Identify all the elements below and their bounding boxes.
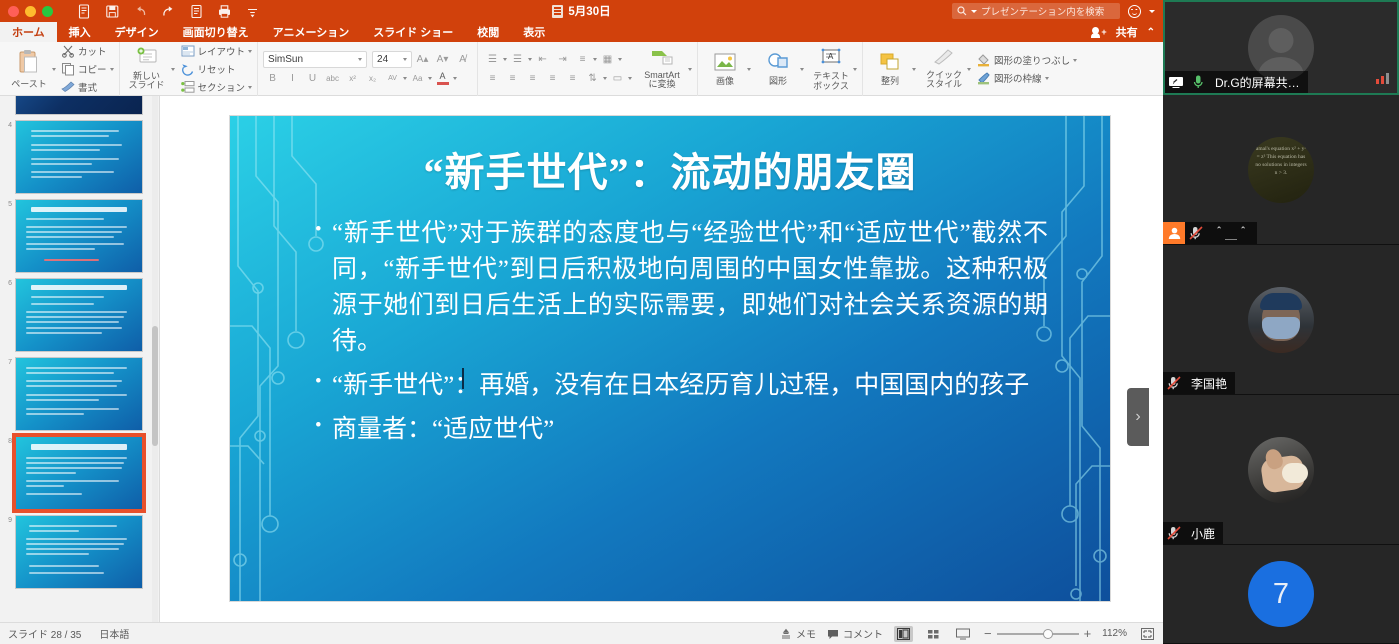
participant-name: ＾＿＾ xyxy=(1207,225,1249,242)
shape-format-actions: 図形の塗りつぶし 図形の枠線 xyxy=(977,52,1077,86)
thumbnail-row[interactable]: 4 xyxy=(0,115,153,194)
share-person-icon[interactable]: + xyxy=(1092,27,1107,38)
subscript-button[interactable]: x₂ xyxy=(363,70,382,87)
copy-button[interactable]: コピー xyxy=(61,61,114,77)
arrange-button[interactable]: 整列 xyxy=(868,52,912,86)
arrange-icon xyxy=(879,52,901,74)
align-text-button[interactable]: ▭ xyxy=(608,70,627,87)
character-spacing-button[interactable]: AV xyxy=(383,70,402,87)
status-bar: スライド 28 / 35 日本語 メモ コメント xyxy=(0,622,1163,644)
columns-button[interactable]: ▦ xyxy=(598,51,617,68)
microphone-muted-icon[interactable] xyxy=(1163,372,1185,394)
paragraph-controls: ☰ ☰ ⇤ ⇥ ≡ ▦ ≡ ≡ ≡ ≡ ≡ ⇅ ▭ xyxy=(483,51,632,87)
slide-counter: スライド 28 / 35 xyxy=(8,626,81,641)
format-painter-button[interactable]: 書式 xyxy=(61,79,114,95)
tab-transitions[interactable]: 画面切り替え xyxy=(171,22,261,42)
bullet-glyph: • xyxy=(315,216,332,245)
avatar: amal's equation x² + y² = z² This equati… xyxy=(1248,137,1314,203)
quick-access-toolbar[interactable] xyxy=(77,4,260,19)
zoom-knob[interactable] xyxy=(1043,629,1053,639)
font-color-button[interactable]: A xyxy=(433,70,452,87)
underline-button[interactable]: U xyxy=(303,70,322,87)
ribbon-group-insert: 画像 図形 A テキスト ボックス xyxy=(698,42,863,96)
zoom-out-button[interactable]: − xyxy=(984,626,992,641)
font-name-value: SimSun xyxy=(268,54,358,65)
text-cursor xyxy=(462,368,464,389)
shape-fill-dropdown-icon[interactable] xyxy=(1073,59,1077,62)
justify-button[interactable]: ≡ xyxy=(543,70,562,87)
italic-button[interactable]: I xyxy=(283,70,302,87)
shape-outline-icon xyxy=(977,71,991,85)
avatar xyxy=(1248,437,1314,503)
smartart-dropdown-icon[interactable] xyxy=(688,68,692,71)
zoom-participant-tile[interactable]: 李国艳 xyxy=(1163,245,1399,395)
search-icon xyxy=(957,6,967,16)
network-signal-icon xyxy=(1376,72,1389,84)
insert-shapes-dropdown-icon[interactable] xyxy=(800,68,804,71)
font-name-dropdown-icon[interactable] xyxy=(358,58,362,61)
line-spacing-dropdown-icon[interactable] xyxy=(593,58,597,61)
zoom-level[interactable]: 112% xyxy=(1102,628,1127,639)
insert-textbox-label-2: ボックス xyxy=(813,82,849,91)
status-bar-left: スライド 28 / 35 日本語 xyxy=(0,626,129,641)
thumbnail-list: 4 5 xyxy=(0,96,153,622)
quick-styles-icon xyxy=(932,48,956,68)
cut-button[interactable]: カット xyxy=(61,43,114,59)
convert-smartart-button[interactable]: SmartArt に変換 xyxy=(636,48,688,89)
picture-icon xyxy=(713,52,737,75)
new-slide-label-2: スライド xyxy=(129,81,165,90)
reading-view-icon xyxy=(956,628,970,640)
section-button[interactable]: セクション xyxy=(181,79,253,95)
zoom-in-button[interactable]: + xyxy=(1084,626,1092,641)
thumbnail-scrollbar-thumb[interactable] xyxy=(152,326,158,446)
reset-button[interactable]: リセット xyxy=(181,61,253,77)
format-painter-icon xyxy=(61,80,75,94)
format-painter-label: 書式 xyxy=(78,80,97,94)
insert-picture-dropdown-icon[interactable] xyxy=(747,68,751,71)
participant-name: 李国艳 xyxy=(1185,375,1227,392)
participant-name: Dr.G的屏幕共… xyxy=(1209,74,1300,91)
zoom-participant-tile[interactable]: amal's equation x² + y² = z² This equati… xyxy=(1163,95,1399,245)
insert-shapes-button[interactable]: 図形 xyxy=(756,52,800,87)
arrange-dropdown-icon[interactable] xyxy=(912,68,916,71)
copy-icon xyxy=(61,62,75,76)
microphone-icon[interactable] xyxy=(1187,71,1209,93)
title-bar: 5月30日 プレゼンテーション内を検索 xyxy=(0,0,1163,22)
slide-bullet[interactable]: • “新手世代”对于族群的态度也与“经验世代”和“适应世代”截然不同，“新手世代… xyxy=(315,216,1048,360)
smartart-icon xyxy=(650,48,674,68)
notes-icon xyxy=(780,628,792,640)
shape-outline-dropdown-icon[interactable] xyxy=(1045,77,1049,80)
new-file-icon[interactable] xyxy=(77,4,92,19)
slide-bullet[interactable]: • “新手世代”：再婚，没有在日本经历育儿过程，中国国内的孩子 xyxy=(315,368,1048,404)
thumbnail-number: 5 xyxy=(2,199,12,208)
shrink-font-button[interactable]: A▾ xyxy=(433,51,452,68)
ribbon-group-clipboard: ペースト カット コピー 書式 xyxy=(2,42,120,96)
align-right-button[interactable]: ≡ xyxy=(523,70,542,87)
numbered-list-dropdown-icon[interactable] xyxy=(528,58,532,61)
ribbon-group-slides: 新しい スライド レイアウト リセット xyxy=(120,42,259,96)
grow-font-button[interactable]: A▴ xyxy=(413,51,432,68)
layout-button[interactable]: レイアウト xyxy=(181,43,253,59)
layout-dropdown-icon[interactable] xyxy=(248,50,252,53)
fit-slide-button[interactable] xyxy=(1138,626,1157,642)
copy-label: コピー xyxy=(78,62,107,76)
shape-fill-button[interactable]: 図形の塗りつぶし xyxy=(977,52,1077,68)
microphone-muted-icon[interactable] xyxy=(1185,222,1207,244)
participant-name-bar: ＾＿＾ xyxy=(1163,222,1257,244)
slide-bullet-text: “新手世代”对于族群的态度也与“经验世代”和“适应世代”截然不同，“新手世代”到… xyxy=(332,216,1048,360)
align-left-button[interactable]: ≡ xyxy=(483,70,502,87)
shapes-icon xyxy=(766,52,790,75)
thumbnail-row[interactable]: 8 xyxy=(0,431,153,510)
smartart-label-2: に変換 xyxy=(649,80,676,89)
collapse-ribbon-icon[interactable]: ⌃ xyxy=(1147,27,1155,38)
clipboard-actions: カット コピー 書式 xyxy=(61,43,114,95)
chevron-right-icon: › xyxy=(1135,408,1140,426)
shape-fill-icon xyxy=(977,53,991,67)
insert-picture-button[interactable]: 画像 xyxy=(703,52,747,87)
avatar-initial: 7 xyxy=(1273,578,1289,611)
normal-view-icon xyxy=(897,628,910,640)
align-text-dropdown-icon[interactable] xyxy=(628,77,632,80)
text-direction-button[interactable]: ⇅ xyxy=(583,70,602,87)
paste-button[interactable]: ペースト xyxy=(7,49,51,89)
decrease-indent-button[interactable]: ⇤ xyxy=(533,51,552,68)
new-slide-icon[interactable] xyxy=(189,4,204,19)
avatar-facemask xyxy=(1262,317,1300,339)
search-dropdown-icon[interactable] xyxy=(971,10,977,13)
insert-textbox-button[interactable]: A テキスト ボックス xyxy=(809,47,853,91)
ribbon-group-arrange: 整列 クイック スタイル 図形の塗りつぶし xyxy=(863,42,1082,96)
slide-actions: レイアウト リセット セクション xyxy=(181,43,253,95)
minimize-window-button[interactable] xyxy=(25,6,36,17)
screen-root: 5月30日 プレゼンテーション内を検索 ホーム 挿入 デザイン 画面切り替え ア… xyxy=(0,0,1399,644)
smiley-icon[interactable] xyxy=(1128,5,1141,18)
slide-sorter-icon xyxy=(927,628,940,640)
new-slide-dropdown-icon[interactable] xyxy=(171,68,175,71)
thumbnail-number: 6 xyxy=(2,278,12,287)
thumbnail-row[interactable]: 9 xyxy=(0,510,153,589)
insert-textbox-dropdown-icon[interactable] xyxy=(853,68,857,71)
thumbnail-number: 7 xyxy=(2,357,12,366)
powerpoint-window: 5月30日 プレゼンテーション内を検索 ホーム 挿入 デザイン 画面切り替え ア… xyxy=(0,0,1163,644)
reading-view-button[interactable] xyxy=(954,626,973,642)
slide-body-placeholder[interactable]: • “新手世代”对于族群的态度也与“经验世代”和“适应世代”截然不同，“新手世代… xyxy=(315,216,1048,456)
shape-outline-label: 図形の枠線 xyxy=(994,71,1042,85)
avatar: 7 xyxy=(1248,561,1314,627)
participant-name-bar: 李国艳 xyxy=(1163,372,1235,394)
slide-thumbnail-pane[interactable]: 4 5 xyxy=(0,96,160,622)
thumbnail-row[interactable]: 7 xyxy=(0,352,153,431)
cut-label: カット xyxy=(78,44,107,58)
zoom-participant-strip: Dr.G的屏幕共… amal's equation x² + y² = z² T… xyxy=(1163,0,1399,644)
participant-avatar-icon xyxy=(1163,222,1185,244)
share-area: + 共有 ⌃ xyxy=(1092,22,1155,42)
numbered-list-button[interactable]: ☰ xyxy=(508,51,527,68)
increase-indent-button[interactable]: ⇥ xyxy=(553,51,572,68)
avatar-cap xyxy=(1260,293,1302,310)
comment-icon xyxy=(827,628,839,640)
comments-label: コメント xyxy=(843,626,883,641)
scissors-icon xyxy=(61,44,75,58)
layout-label: レイアウト xyxy=(198,44,246,58)
shape-fill-label: 図形の塗りつぶし xyxy=(994,53,1070,67)
normal-view-button[interactable] xyxy=(894,626,913,642)
font-size-value: 24 xyxy=(377,54,403,65)
paragraph-row-2: ≡ ≡ ≡ ≡ ≡ ⇅ ▭ xyxy=(483,70,632,87)
paste-icon xyxy=(18,49,40,77)
distribute-button[interactable]: ≡ xyxy=(563,70,582,87)
paste-dropdown-icon[interactable] xyxy=(52,68,56,71)
font-color-letter: A xyxy=(440,72,446,81)
avatar-dog-snout xyxy=(1282,463,1308,483)
bullet-list-dropdown-icon[interactable] xyxy=(503,58,507,61)
section-icon xyxy=(181,80,195,94)
search-input[interactable]: プレゼンテーション内を検索 xyxy=(952,3,1120,19)
insert-picture-label: 画像 xyxy=(716,77,734,86)
slide-thumbnail[interactable] xyxy=(15,199,143,273)
slide-canvas[interactable]: “新手世代”：流动的朋友圈 • “新手世代”对于族群的态度也与“经验世代”和“适… xyxy=(230,116,1110,601)
text-direction-dropdown-icon[interactable] xyxy=(603,77,607,80)
font-controls: SimSun 24 A▴ A▾ A̸ B I xyxy=(263,51,472,87)
slide-bullet[interactable]: • 商量者：“适应世代” xyxy=(315,412,1048,448)
zoom-participant-tile-active[interactable]: Dr.G的屏幕共… xyxy=(1163,0,1399,95)
status-bar-right: メモ コメント − + xyxy=(780,626,1157,642)
print-icon[interactable] xyxy=(217,4,232,19)
shape-outline-button[interactable]: 図形の枠線 xyxy=(977,70,1077,86)
smiley-dropdown-icon[interactable] xyxy=(1149,10,1155,13)
slide-title[interactable]: “新手世代”：流动的朋友圈 xyxy=(230,140,1110,198)
ribbon-tab-bar: ホーム 挿入 デザイン 画面切り替え アニメーション スライド ショー 校閲 表… xyxy=(0,22,1163,42)
align-center-button[interactable]: ≡ xyxy=(503,70,522,87)
reset-label: リセット xyxy=(198,62,236,76)
share-button-label[interactable]: 共有 xyxy=(1116,24,1138,40)
ribbon-group-paragraph: ☰ ☰ ⇤ ⇥ ≡ ▦ ≡ ≡ ≡ ≡ ≡ ⇅ ▭ xyxy=(478,42,698,96)
thumbnail-row[interactable]: 6 xyxy=(0,273,153,352)
undo-icon[interactable] xyxy=(133,4,148,19)
participant-name: 小鹿 xyxy=(1185,525,1215,542)
bullet-glyph: • xyxy=(315,368,332,397)
close-window-button[interactable] xyxy=(8,6,19,17)
notes-button[interactable]: メモ xyxy=(780,626,816,641)
zoom-track[interactable] xyxy=(997,633,1079,635)
insert-shapes-label: 図形 xyxy=(769,77,787,86)
ribbon: ペースト カット コピー 書式 xyxy=(0,42,1163,96)
tab-design[interactable]: デザイン xyxy=(103,22,171,42)
customize-qat-icon[interactable] xyxy=(245,4,260,19)
bullet-list-button[interactable]: ☰ xyxy=(483,51,502,68)
ribbon-group-font: SimSun 24 A▴ A▾ A̸ B I xyxy=(258,42,478,96)
layout-icon xyxy=(181,44,195,58)
avatar xyxy=(1248,287,1314,353)
paragraph-row-1: ☰ ☰ ⇤ ⇥ ≡ ▦ xyxy=(483,51,632,68)
search-placeholder-text: プレゼンテーション内を検索 xyxy=(981,4,1104,18)
expand-panel-button[interactable]: › xyxy=(1127,388,1149,446)
title-bar-right: プレゼンテーション内を検索 xyxy=(952,3,1155,19)
comments-button[interactable]: コメント xyxy=(827,626,883,641)
zoom-slider[interactable]: − + xyxy=(984,626,1091,641)
zoom-participant-tile[interactable]: 7 xyxy=(1163,545,1399,644)
section-dropdown-icon[interactable] xyxy=(248,86,252,89)
bullet-glyph: • xyxy=(315,412,332,441)
section-label: セクション xyxy=(198,80,246,94)
slide-thumbnail[interactable] xyxy=(15,120,143,194)
font-color-dropdown-icon[interactable] xyxy=(453,77,457,80)
zoom-participant-tile[interactable]: 小鹿 xyxy=(1163,395,1399,545)
quick-styles-dropdown-icon[interactable] xyxy=(967,68,971,71)
slide-thumbnail[interactable] xyxy=(15,96,143,115)
window-controls[interactable] xyxy=(8,6,53,17)
change-case-button[interactable]: Aa xyxy=(408,70,427,87)
slide-canvas-pane[interactable]: “新手世代”：流动的朋友圈 • “新手世代”对于族群的态度也与“经验世代”和“适… xyxy=(160,96,1163,622)
font-row-1: SimSun 24 A▴ A▾ A̸ xyxy=(263,51,472,68)
superscript-button[interactable]: x² xyxy=(343,70,362,87)
svg-text:A: A xyxy=(828,52,834,61)
redo-icon[interactable] xyxy=(161,4,176,19)
save-icon[interactable] xyxy=(105,4,120,19)
fit-slide-icon xyxy=(1141,628,1154,640)
thumbnail-number: 4 xyxy=(2,120,12,129)
language-indicator[interactable]: 日本語 xyxy=(99,626,129,641)
slide-bullet-text: 商量者：“适应世代” xyxy=(332,412,1048,448)
line-spacing-button[interactable]: ≡ xyxy=(573,51,592,68)
clear-formatting-icon[interactable]: A̸ xyxy=(453,51,472,68)
maximize-window-button[interactable] xyxy=(42,6,53,17)
slide-thumbnail-selected[interactable] xyxy=(15,436,143,510)
document-title-text: 5月30日 xyxy=(568,3,610,19)
copy-dropdown-icon[interactable] xyxy=(110,68,114,71)
thumbnail-row[interactable] xyxy=(0,96,153,115)
paste-label: ペースト xyxy=(11,80,47,89)
participant-name-bar: Dr.G的屏幕共… xyxy=(1165,71,1308,93)
slide-sorter-button[interactable] xyxy=(924,626,943,642)
arrange-label: 整列 xyxy=(881,77,899,86)
quick-styles-button[interactable]: クイック スタイル xyxy=(921,48,967,89)
textbox-icon: A xyxy=(819,47,843,70)
font-size-dropdown-icon[interactable] xyxy=(403,58,407,61)
strikethrough-button[interactable]: abc xyxy=(323,70,342,87)
font-name-input[interactable]: SimSun xyxy=(263,51,367,68)
font-size-input[interactable]: 24 xyxy=(372,51,412,68)
quick-styles-label-2: スタイル xyxy=(926,80,962,89)
participant-name-bar: 小鹿 xyxy=(1163,522,1223,544)
reset-icon xyxy=(181,62,195,76)
thumbnail-row[interactable]: 5 xyxy=(0,194,153,273)
presentation-file-icon xyxy=(552,5,563,18)
notes-label: メモ xyxy=(796,626,816,641)
tab-review[interactable]: 校閲 xyxy=(465,22,511,42)
slide-thumbnail[interactable] xyxy=(15,515,143,589)
screen-share-icon xyxy=(1165,71,1187,93)
tab-slideshow[interactable]: スライド ショー xyxy=(361,22,465,42)
tab-view[interactable]: 表示 xyxy=(511,22,557,42)
new-slide-icon xyxy=(136,47,158,69)
tab-animations[interactable]: アニメーション xyxy=(261,22,362,42)
slide-thumbnail[interactable] xyxy=(15,278,143,352)
new-slide-button[interactable]: 新しい スライド xyxy=(125,47,169,90)
tab-home[interactable]: ホーム xyxy=(0,22,57,42)
columns-dropdown-icon[interactable] xyxy=(618,58,622,61)
bold-button[interactable]: B xyxy=(263,70,282,87)
tab-insert[interactable]: 挿入 xyxy=(57,22,103,42)
thumbnail-number: 9 xyxy=(2,515,12,524)
change-case-dropdown-icon[interactable] xyxy=(428,77,432,80)
thumbnail-number-selected: 8 xyxy=(2,436,12,445)
microphone-muted-icon[interactable] xyxy=(1163,522,1185,544)
slide-bullet-text: “新手世代”：再婚，没有在日本经历育儿过程，中国国内的孩子 xyxy=(332,368,1048,404)
avatar-chalk-text: amal's equation x² + y² = z² This equati… xyxy=(1248,137,1314,203)
character-spacing-dropdown-icon[interactable] xyxy=(403,77,407,80)
work-area: 4 5 xyxy=(0,96,1163,622)
slide-thumbnail[interactable] xyxy=(15,357,143,431)
font-row-2: B I U abc x² x₂ AV Aa A xyxy=(263,70,472,87)
font-color-swatch xyxy=(437,82,449,85)
